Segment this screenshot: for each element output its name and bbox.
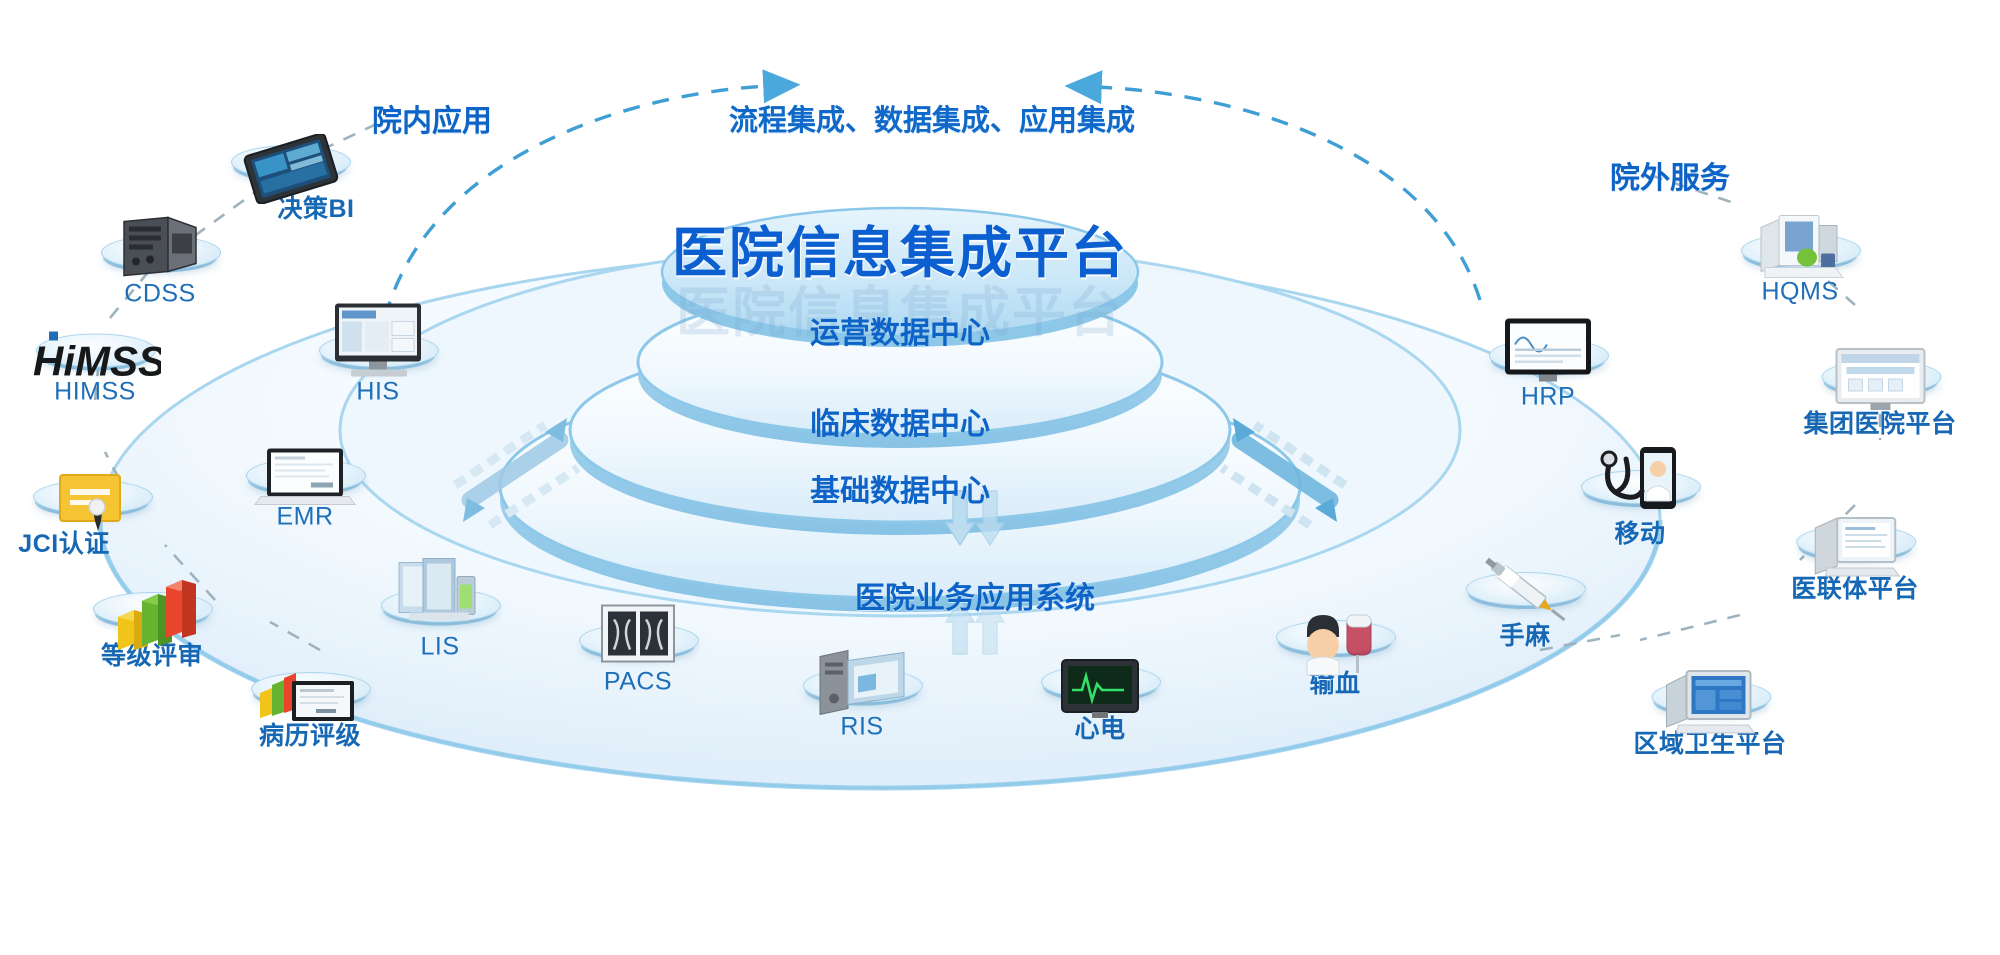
node-grade-review[interactable]: 等级评审 xyxy=(93,592,211,672)
laptop-icon xyxy=(253,443,357,516)
mobile-stethoscope-icon xyxy=(1582,443,1698,534)
right-exchange-arrows xyxy=(1222,418,1345,525)
caption-business-systems: 医院业务应用系统 xyxy=(855,573,1095,617)
tier-label-basic: 基础数据中心 xyxy=(810,466,990,510)
bar-chart-3d-icon xyxy=(102,571,202,656)
monitor-blue-icon xyxy=(1654,665,1766,744)
node-cdss[interactable]: CDSS xyxy=(101,236,219,309)
node-juece-bi[interactable]: 决策BI xyxy=(231,145,349,225)
tier-label-operation: 运营数据中心 xyxy=(810,308,990,352)
node-record-rating[interactable]: 病历评级 xyxy=(251,672,369,752)
syringe-icon xyxy=(1472,551,1578,636)
caption-in-hospital: 院内应用 xyxy=(372,96,492,140)
node-jci-certification[interactable]: JCI认证 xyxy=(33,480,151,560)
monitor-report-icon xyxy=(1493,315,1603,396)
node-group-hospital-platform[interactable]: 集团医院平台 xyxy=(1803,360,1956,440)
node-ris[interactable]: RIS xyxy=(803,669,921,742)
node-hqms[interactable]: HQMS xyxy=(1741,234,1859,307)
node-his[interactable]: HIS xyxy=(319,334,437,407)
node-lis[interactable]: LIS xyxy=(381,589,499,662)
node-ecg[interactable]: 心电 xyxy=(1041,665,1159,745)
node-mobile[interactable]: 移动 xyxy=(1581,470,1699,550)
node-blood-transfusion[interactable]: 输血 xyxy=(1276,620,1394,700)
certificate-seal-icon xyxy=(50,467,134,544)
node-pacs[interactable]: PACS xyxy=(579,624,697,697)
node-anesthesia[interactable]: 手麻 xyxy=(1466,572,1584,652)
node-medical-alliance-platform[interactable]: 医联体平台 xyxy=(1791,525,1919,605)
monitor-portal-icon xyxy=(1826,345,1934,424)
caption-out-hospital: 院外服务 xyxy=(1610,153,1730,197)
tier-label-clinical: 临床数据中心 xyxy=(810,399,990,443)
lab-analyzer-icon xyxy=(385,555,495,646)
node-emr[interactable]: EMR xyxy=(246,459,364,532)
folder-documents-icon xyxy=(1745,208,1855,291)
node-regional-health-platform[interactable]: 区域卫生平台 xyxy=(1633,680,1786,760)
monitor-network-icon xyxy=(1801,510,1909,589)
diagram-canvas: 医院信息集成平台 医院信息集成平台 运营数据中心 临床数据中心 基础数据中心 医… xyxy=(0,0,2000,955)
ecg-monitor-icon xyxy=(1048,654,1152,729)
blood-transfusion-icon xyxy=(1281,601,1389,684)
himss-logo-icon: HiMSS xyxy=(29,330,161,391)
node-himss[interactable]: HiMSS HIMSS xyxy=(36,334,154,407)
workstation-icon xyxy=(808,647,916,726)
server-rack-icon xyxy=(112,214,208,293)
caption-integration-flow: 流程集成、数据集成、应用集成 xyxy=(729,97,1135,139)
tablet-dashboard-icon xyxy=(235,134,345,209)
xray-film-icon xyxy=(590,600,686,681)
svg-text:HiMSS: HiMSS xyxy=(33,338,161,385)
desktop-monitor-icon xyxy=(325,300,431,391)
left-exchange-arrows xyxy=(455,418,578,525)
platform-title: 医院信息集成平台 xyxy=(672,208,1128,288)
laptop-chart-icon xyxy=(254,659,366,736)
node-hrp[interactable]: HRP xyxy=(1489,339,1607,412)
